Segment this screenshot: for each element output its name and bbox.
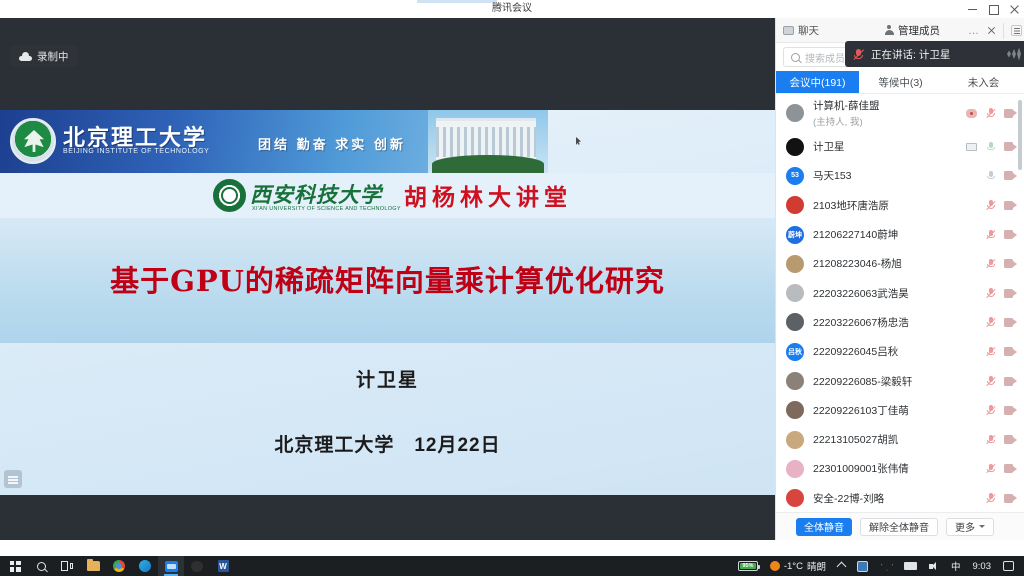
participant-name-text: 21208223046-杨旭: [813, 258, 902, 270]
volume-status[interactable]: [923, 556, 945, 576]
participant-name-text: 22209226103丁佳萌: [813, 405, 909, 417]
participant-name: 22213105027胡凯: [813, 432, 898, 447]
slide-affiliation: 北京理工大学 12月22日: [0, 430, 775, 457]
avatar: [786, 138, 804, 156]
participant-status-icons: [986, 396, 1017, 425]
participant-row[interactable]: 22301009001张伟倩: [776, 454, 1024, 483]
xust-logo-icon: [213, 179, 246, 212]
avatar: [786, 313, 804, 331]
window-controls: [967, 0, 1020, 18]
participant-name-text: 22203226067杨忠浩: [813, 317, 909, 329]
recording-badge: 录制中: [10, 45, 78, 67]
annotation-toolbar-button[interactable]: [4, 470, 22, 488]
mic-muted-icon[interactable]: [986, 375, 995, 387]
weather-description: 晴朗: [807, 559, 826, 573]
participant-name-text: 22209226085-梁毅轩: [813, 376, 912, 388]
participant-row[interactable]: 蔚坤21206227140蔚坤: [776, 220, 1024, 249]
system-tray: 95% -1°C 晴朗 中 9:03: [732, 556, 1024, 576]
tencent-meeting-button[interactable]: [158, 556, 184, 576]
unmute-all-button[interactable]: 解除全体静音: [860, 518, 938, 536]
search-placeholder: 搜索成员: [805, 50, 845, 65]
person-icon: [884, 25, 894, 35]
word-button[interactable]: W: [210, 556, 236, 576]
battery-small-icon: [904, 562, 917, 570]
panel-footer: 全体静音 解除全体静音 更多: [776, 512, 1024, 540]
participant-row[interactable]: 21208223046-杨旭: [776, 249, 1024, 278]
participant-row[interactable]: 吕秋22209226045吕秋: [776, 337, 1024, 366]
mic-muted-icon[interactable]: [986, 258, 995, 270]
tab-chat[interactable]: 聊天: [776, 18, 876, 43]
windows-icon: [10, 561, 21, 572]
tab-members[interactable]: 管理成员: [876, 18, 972, 43]
camera-off-icon[interactable]: [1004, 406, 1017, 415]
close-button[interactable]: [1009, 4, 1020, 15]
mic-muted-icon[interactable]: [986, 492, 995, 504]
camera-off-icon[interactable]: [1004, 377, 1017, 386]
participant-status-icons: [986, 425, 1017, 454]
chat-icon: [783, 26, 794, 35]
bit-motto: 团结 勤奋 求实 创新: [258, 134, 406, 153]
camera-off-icon[interactable]: [1004, 435, 1017, 444]
taskbar-search[interactable]: [28, 556, 54, 576]
xust-university-english: XI'AN UNIVERSITY OF SCIENCE AND TECHNOLO…: [252, 206, 401, 212]
participant-status-icons: [986, 220, 1017, 249]
participant-status-icons: [986, 308, 1017, 337]
participant-status-icons: [986, 337, 1017, 366]
tab-not-joined[interactable]: 未入会: [942, 71, 1024, 93]
speaker-icon: [929, 562, 939, 571]
chevron-up-icon: [837, 561, 847, 571]
participant-name: 21208223046-杨旭: [813, 256, 902, 271]
more-button-label: 更多: [955, 519, 975, 534]
participant-name: 22301009001张伟倩: [813, 461, 909, 476]
mute-all-button[interactable]: 全体静音: [796, 518, 852, 536]
more-button[interactable]: 更多: [946, 518, 994, 536]
participant-row[interactable]: 22209226085-梁毅轩: [776, 366, 1024, 395]
campus-photo: [428, 110, 548, 173]
task-view-button[interactable]: [54, 556, 80, 576]
participant-name: 22203226067杨忠浩: [813, 315, 909, 330]
avatar: [786, 460, 804, 478]
camera-off-icon[interactable]: [1004, 318, 1017, 327]
active-speaker-overlay: 正在讲话: 计卫星: [845, 41, 1024, 67]
camera-off-icon[interactable]: [1004, 464, 1017, 473]
participant-row[interactable]: 22203226067杨忠浩: [776, 308, 1024, 337]
app-dark-button[interactable]: [184, 556, 210, 576]
tab-in-meeting[interactable]: 会议中(191): [776, 71, 859, 93]
start-button[interactable]: [2, 556, 28, 576]
mic-muted-icon[interactable]: [986, 463, 995, 475]
participant-status-icons: [986, 249, 1017, 278]
participant-name: 22209226085-梁毅轩: [813, 374, 912, 389]
participant-name-text: 22209226045吕秋: [813, 346, 898, 358]
participant-name-text: 计算机-薛佳盟: [813, 100, 880, 112]
divider: [1003, 23, 1004, 39]
participant-row[interactable]: 安全-22博-刘略: [776, 484, 1024, 513]
avatar: [786, 104, 804, 122]
ime-indicator[interactable]: 中: [945, 556, 967, 576]
search-icon: [791, 53, 800, 62]
avatar: [786, 196, 804, 214]
panel-close-icon[interactable]: [987, 26, 996, 35]
tray-app[interactable]: [851, 556, 874, 576]
tab-chat-label: 聊天: [798, 23, 819, 38]
active-speaker-text: 正在讲话: 计卫星: [871, 47, 950, 62]
audio-wave-icon: [1007, 48, 1021, 61]
weather-widget[interactable]: -1°C 晴朗: [764, 556, 832, 576]
mic-muted-icon[interactable]: [986, 229, 995, 241]
screen-share-indicator-icon: [966, 143, 977, 151]
wifi-icon: [880, 562, 892, 571]
participant-name-text: 22213105027胡凯: [813, 434, 898, 446]
participant-name-text: 计卫星: [813, 141, 845, 153]
avatar: [786, 489, 804, 507]
more-options-icon[interactable]: …: [968, 26, 980, 36]
participant-list[interactable]: 计算机-薛佳盟(主持人, 我)计卫星53马天1532103地环唐浩原蔚坤2120…: [776, 94, 1024, 540]
minimize-button[interactable]: [967, 4, 978, 15]
file-explorer-button[interactable]: [80, 556, 106, 576]
camera-off-icon[interactable]: [1004, 347, 1017, 356]
app-icon: [191, 561, 203, 572]
camera-off-icon[interactable]: [1004, 109, 1017, 118]
notification-center[interactable]: [997, 556, 1020, 576]
member-filter-tabs: 会议中(191) 等候中(3) 未入会: [776, 71, 1024, 94]
participant-status-icons: [986, 191, 1017, 220]
network-status[interactable]: [874, 556, 898, 576]
chevron-down-icon: [979, 525, 985, 528]
mic-muted-icon: [853, 48, 864, 61]
participant-row[interactable]: 计算机-薛佳盟(主持人, 我): [776, 94, 1024, 132]
panel-tab-bar: 聊天 管理成员 …: [776, 18, 1024, 43]
task-view-icon: [61, 561, 73, 571]
participant-status-icons: [986, 161, 1017, 190]
battery-icon: 95%: [738, 561, 758, 571]
tab-waiting[interactable]: 等候中(3): [859, 71, 942, 93]
xust-university-name: 西安科技大学: [250, 179, 382, 209]
participant-row[interactable]: 53马天153: [776, 161, 1024, 190]
participant-status-icons: [966, 94, 1017, 132]
chrome-button[interactable]: [106, 556, 132, 576]
participant-row[interactable]: 计卫星: [776, 132, 1024, 161]
participant-name: 22209226103丁佳萌: [813, 403, 909, 418]
participant-status-icons: [966, 132, 1017, 161]
members-panel: 聊天 管理成员 … 搜索成员 正在讲话: 计卫星: [775, 18, 1024, 540]
participant-name: 22203226063武浩昊: [813, 286, 909, 301]
avatar: [786, 401, 804, 419]
avatar: 蔚坤: [786, 226, 804, 244]
panel-actions: …: [968, 18, 1022, 43]
battery-status[interactable]: [898, 556, 923, 576]
participant-row[interactable]: 22203226063武浩昊: [776, 278, 1024, 307]
panel-menu-icon[interactable]: [1011, 25, 1022, 36]
recording-label: 录制中: [37, 49, 69, 64]
participant-name-text: 21206227140蔚坤: [813, 229, 898, 241]
slide-title: 基于GPU的稀疏矩阵向量乘计算优化研究: [0, 258, 775, 300]
battery-percent: 95%: [740, 563, 756, 569]
participant-name: 22209226045吕秋: [813, 344, 898, 359]
camera-off-icon[interactable]: [1004, 230, 1017, 239]
slide-speaker: 计卫星: [0, 365, 775, 392]
participant-row[interactable]: 22213105027胡凯: [776, 425, 1024, 454]
participant-name: 计卫星: [813, 139, 845, 154]
window-title: 腾讯会议: [0, 0, 1024, 18]
mic-muted-icon[interactable]: [986, 434, 995, 446]
clock[interactable]: 9:03: [967, 556, 998, 576]
mic-icon[interactable]: [986, 170, 995, 182]
participant-name-text: 22203226063武浩昊: [813, 288, 909, 300]
mic-icon[interactable]: [986, 141, 995, 153]
weather-temperature: -1°C: [784, 561, 803, 572]
avatar: [786, 284, 804, 302]
notification-icon: [1003, 561, 1014, 571]
participant-name-text: 安全-22博-刘略: [813, 493, 884, 505]
participant-status-icons: [986, 484, 1017, 513]
participant-status-icons: [986, 366, 1017, 395]
mic-muted-icon[interactable]: [986, 346, 995, 358]
bit-banner: 北京理工大学 BEIJING INSTITUTE OF TECHNOLOGY 团…: [0, 110, 548, 173]
participant-name-text: 2103地环唐浩原: [813, 200, 889, 212]
search-row: 搜索成员 正在讲话: 计卫星: [776, 43, 1024, 71]
bit-logo-icon: [10, 118, 56, 164]
recording-indicator-icon: [966, 109, 977, 118]
app-tray-icon: [857, 561, 868, 572]
xust-banner: 西安科技大学 XI'AN UNIVERSITY OF SCIENCE AND T…: [0, 173, 775, 218]
tray-overflow[interactable]: [832, 556, 851, 576]
edge-icon: [139, 560, 151, 572]
forum-name: 胡杨林大讲堂: [404, 178, 572, 212]
search-icon: [37, 562, 46, 571]
participant-role: (主持人, 我): [813, 114, 880, 128]
shared-screen-stage: 录制中 北京理工大学 BEIJING INSTITUTE OF TECHNOLO…: [0, 18, 775, 540]
participant-name-text: 马天153: [813, 170, 852, 182]
camera-off-icon[interactable]: [1004, 289, 1017, 298]
mic-muted-icon[interactable]: [986, 107, 995, 119]
folder-icon: [87, 561, 100, 571]
mic-muted-icon[interactable]: [986, 199, 995, 211]
tencent-meeting-icon: [165, 561, 178, 572]
cloud-record-icon: [19, 52, 32, 61]
window-titlebar: 腾讯会议: [0, 0, 1024, 18]
mic-muted-icon[interactable]: [986, 287, 995, 299]
participant-name: 计算机-薛佳盟(主持人, 我): [813, 98, 880, 128]
presentation-slide: 北京理工大学 BEIJING INSTITUTE OF TECHNOLOGY 团…: [0, 110, 775, 495]
tencent-meeting-window: 腾讯会议 录制中 北京理工大学 BEIJING INSTITUTE OF TEC…: [0, 0, 1024, 576]
avatar: [786, 431, 804, 449]
maximize-button[interactable]: [988, 4, 999, 15]
camera-off-icon[interactable]: [1004, 142, 1017, 151]
camera-off-icon[interactable]: [1004, 201, 1017, 210]
participant-row[interactable]: 22209226103丁佳萌: [776, 396, 1024, 425]
participant-name: 21206227140蔚坤: [813, 227, 898, 242]
edge-button[interactable]: [132, 556, 158, 576]
word-icon: W: [218, 560, 229, 572]
avatar: [786, 255, 804, 273]
taskbar-apps: W: [0, 556, 236, 576]
chrome-icon: [113, 560, 125, 572]
participant-row[interactable]: 2103地环唐浩原: [776, 191, 1024, 220]
camera-off-icon[interactable]: [1004, 259, 1017, 268]
participant-list-scrollbar[interactable]: [1018, 100, 1022, 170]
tab-members-label: 管理成员: [898, 23, 940, 38]
participant-name-text: 22301009001张伟倩: [813, 463, 909, 475]
participant-status-icons: [986, 278, 1017, 307]
camera-off-icon[interactable]: [1004, 494, 1017, 503]
avatar: 53: [786, 167, 804, 185]
mic-muted-icon[interactable]: [986, 404, 995, 416]
avatar: 吕秋: [786, 343, 804, 361]
participant-name: 2103地环唐浩原: [813, 198, 889, 213]
windows-taskbar: W 95% -1°C 晴朗 中 9:03: [0, 556, 1024, 576]
sun-icon: [770, 561, 780, 571]
bit-university-english: BEIJING INSTITUTE OF TECHNOLOGY: [63, 148, 209, 155]
battery-indicator[interactable]: 95%: [732, 556, 764, 576]
mic-muted-icon[interactable]: [986, 316, 995, 328]
participant-name: 安全-22博-刘略: [813, 491, 884, 506]
participant-name: 马天153: [813, 168, 852, 183]
camera-off-icon[interactable]: [1004, 171, 1017, 180]
avatar: [786, 372, 804, 390]
participant-status-icons: [986, 454, 1017, 483]
